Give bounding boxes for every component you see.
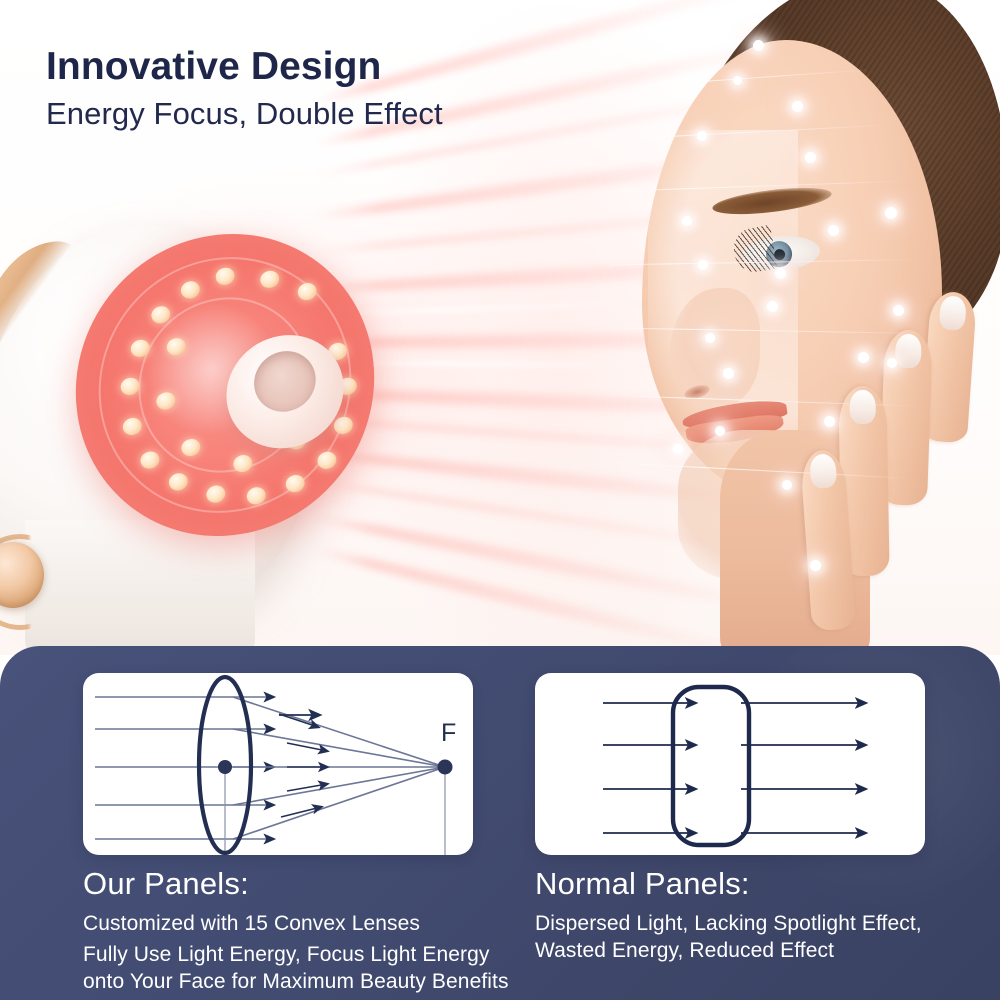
our-panels-heading: Our Panels: <box>83 866 523 903</box>
normal-panels-line1: Dispersed Light, Lacking Spotlight Effec… <box>535 910 985 937</box>
page-subtitle: Energy Focus, Double Effect <box>46 97 443 132</box>
normal-panels-line2: Wasted Energy, Reduced Effect <box>535 938 985 964</box>
page-title: Innovative Design <box>46 46 443 88</box>
our-panels-line2: Fully Use Light Energy, Focus Light Ener… <box>83 942 523 968</box>
our-panels-text: Our Panels: Customized with 15 Convex Le… <box>83 866 523 996</box>
focal-point-label: F <box>441 719 456 747</box>
product-infographic: Innovative Design Energy Focus, Double E… <box>0 0 1000 1000</box>
model-photo <box>610 0 1000 655</box>
headline-block: Innovative Design Energy Focus, Double E… <box>46 46 443 132</box>
fingernail <box>849 390 876 424</box>
normal-panels-heading: Normal Panels: <box>535 866 985 903</box>
normal-panels-text: Normal Panels: Dispersed Light, Lacking … <box>535 866 985 964</box>
beauty-device <box>0 190 400 640</box>
fingernail <box>809 453 837 489</box>
flat-panel-diagram <box>535 673 925 855</box>
our-panels-line3: onto Your Face for Maximum Beauty Benefi… <box>83 969 523 995</box>
fingernail <box>895 334 922 369</box>
hero-image-area: Innovative Design Energy Focus, Double E… <box>0 0 1000 655</box>
fingernail <box>939 295 967 331</box>
convex-lens-diagram: F <box>83 673 473 855</box>
convex-lens-diagram-card: F <box>83 673 473 855</box>
flat-panel-diagram-card <box>535 673 925 855</box>
device-nozzle-hole <box>249 344 322 418</box>
our-panels-line1: Customized with 15 Convex Lenses <box>83 910 523 937</box>
